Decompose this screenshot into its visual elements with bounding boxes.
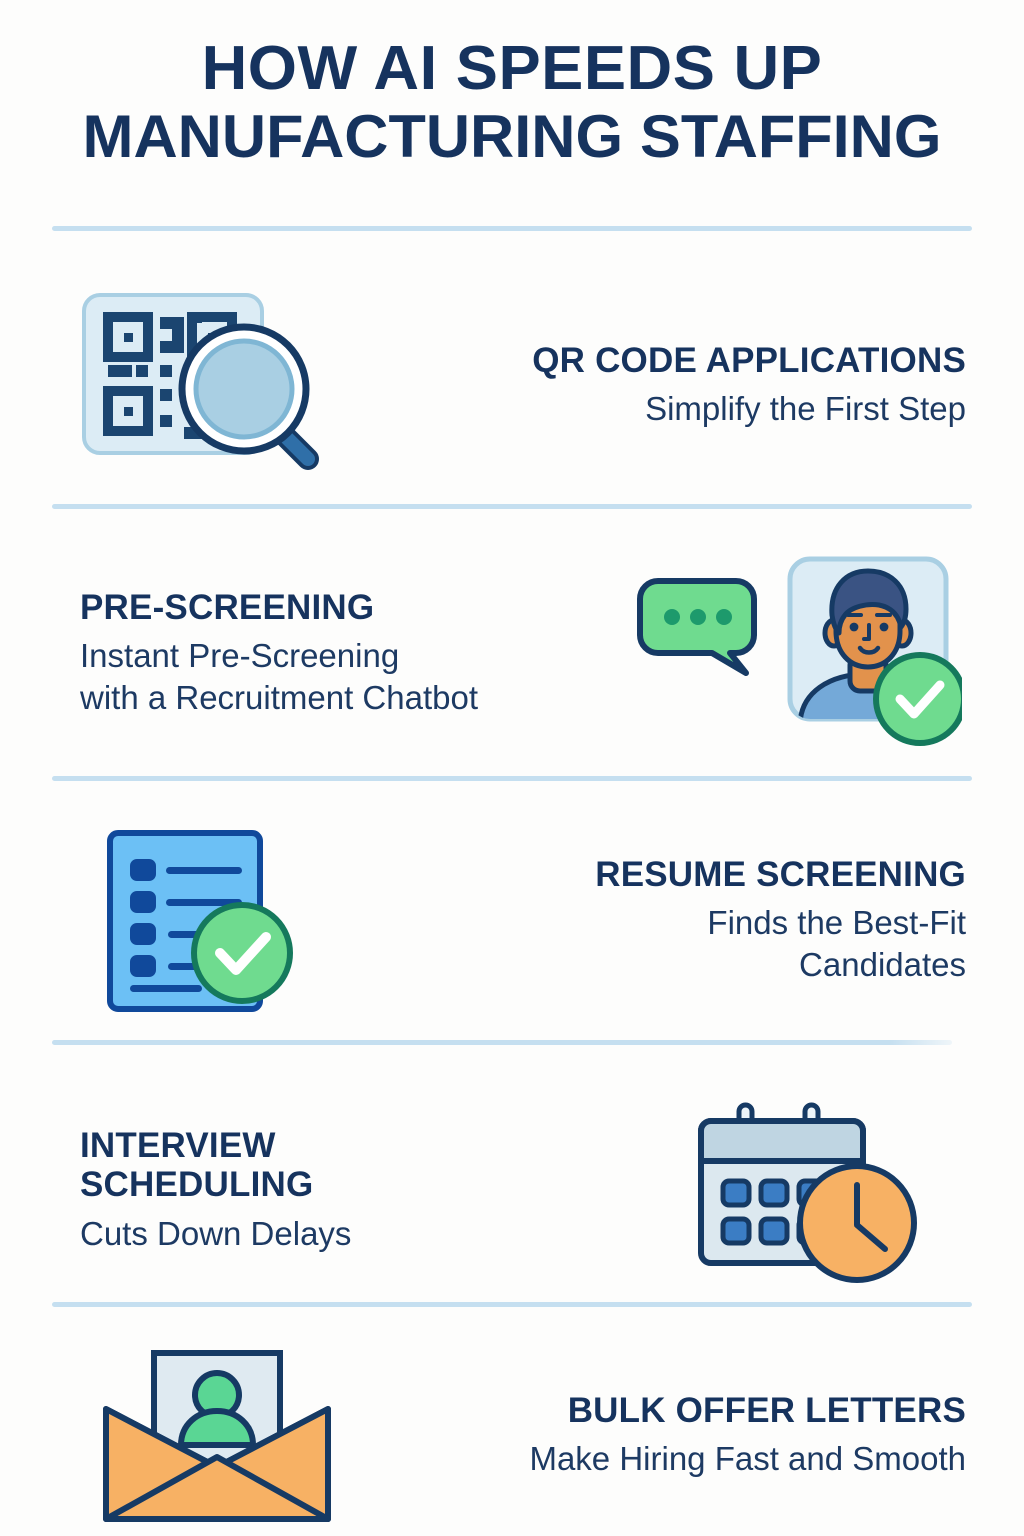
pre-screening-subline-1: Instant Pre-Screening xyxy=(80,636,612,676)
speech-bubble xyxy=(640,581,754,673)
interview-scheduling-headline-2: SCHEDULING xyxy=(80,1165,642,1204)
interview-scheduling-copy: INTERVIEW SCHEDULING Cuts Down Delays xyxy=(52,1126,642,1254)
page-title: HOW AI SPEEDS UP MANUFACTURING STAFFING xyxy=(0,0,1024,171)
bulk-offer-letters-subline-1: Make Hiring Fast and Smooth xyxy=(382,1439,966,1479)
section-qr-code-applications: QR CODE APPLICATIONS Simplify the First … xyxy=(52,290,972,480)
title-line-1: HOW AI SPEEDS UP xyxy=(31,34,994,103)
title-line-2: MANUFACTURING STAFFING xyxy=(31,103,994,170)
section-interview-scheduling: INTERVIEW SCHEDULING Cuts Down Delays xyxy=(52,1090,972,1290)
resume-screening-headline: RESUME SCREENING xyxy=(352,855,966,894)
qr-code-copy: QR CODE APPLICATIONS Simplify the First … xyxy=(352,341,972,429)
resume-screening-copy: RESUME SCREENING Finds the Best-Fit Cand… xyxy=(352,855,972,986)
section-bulk-offer-letters: BULK OFFER LETTERS Make Hiring Fast and … xyxy=(52,1340,972,1530)
check-badge xyxy=(876,655,962,743)
divider-5 xyxy=(52,1302,972,1307)
chatbot-avatar-icon xyxy=(612,551,972,756)
interview-scheduling-headline-1: INTERVIEW xyxy=(80,1126,642,1165)
calendar-clock-icon xyxy=(642,1095,972,1285)
envelope-person-icon xyxy=(52,1343,382,1528)
bulk-offer-letters-headline: BULK OFFER LETTERS xyxy=(382,1391,966,1430)
qr-code-headline: QR CODE APPLICATIONS xyxy=(352,341,966,380)
divider-4 xyxy=(52,1040,952,1045)
pre-screening-headline: PRE-SCREENING xyxy=(80,588,612,627)
section-pre-screening: PRE-SCREENING Instant Pre-Screening with… xyxy=(52,548,972,758)
qr-code-subline-1: Simplify the First Step xyxy=(352,389,966,429)
divider-1 xyxy=(52,226,972,231)
bulk-offer-letters-copy: BULK OFFER LETTERS Make Hiring Fast and … xyxy=(382,1391,972,1479)
section-resume-screening: RESUME SCREENING Finds the Best-Fit Cand… xyxy=(52,820,972,1020)
resume-checklist-icon xyxy=(52,825,352,1015)
pre-screening-subline-2: with a Recruitment Chatbot xyxy=(80,678,612,718)
divider-2 xyxy=(52,504,972,509)
pre-screening-copy: PRE-SCREENING Instant Pre-Screening with… xyxy=(52,588,612,719)
resume-screening-subline-1: Finds the Best-Fit xyxy=(352,903,966,943)
divider-3 xyxy=(52,776,972,781)
qr-code-magnifier-icon xyxy=(52,289,352,481)
interview-scheduling-subline-1: Cuts Down Delays xyxy=(80,1214,642,1254)
resume-screening-subline-2: Candidates xyxy=(352,945,966,985)
infographic-canvas: HOW AI SPEEDS UP MANUFACTURING STAFFING xyxy=(0,0,1024,1536)
